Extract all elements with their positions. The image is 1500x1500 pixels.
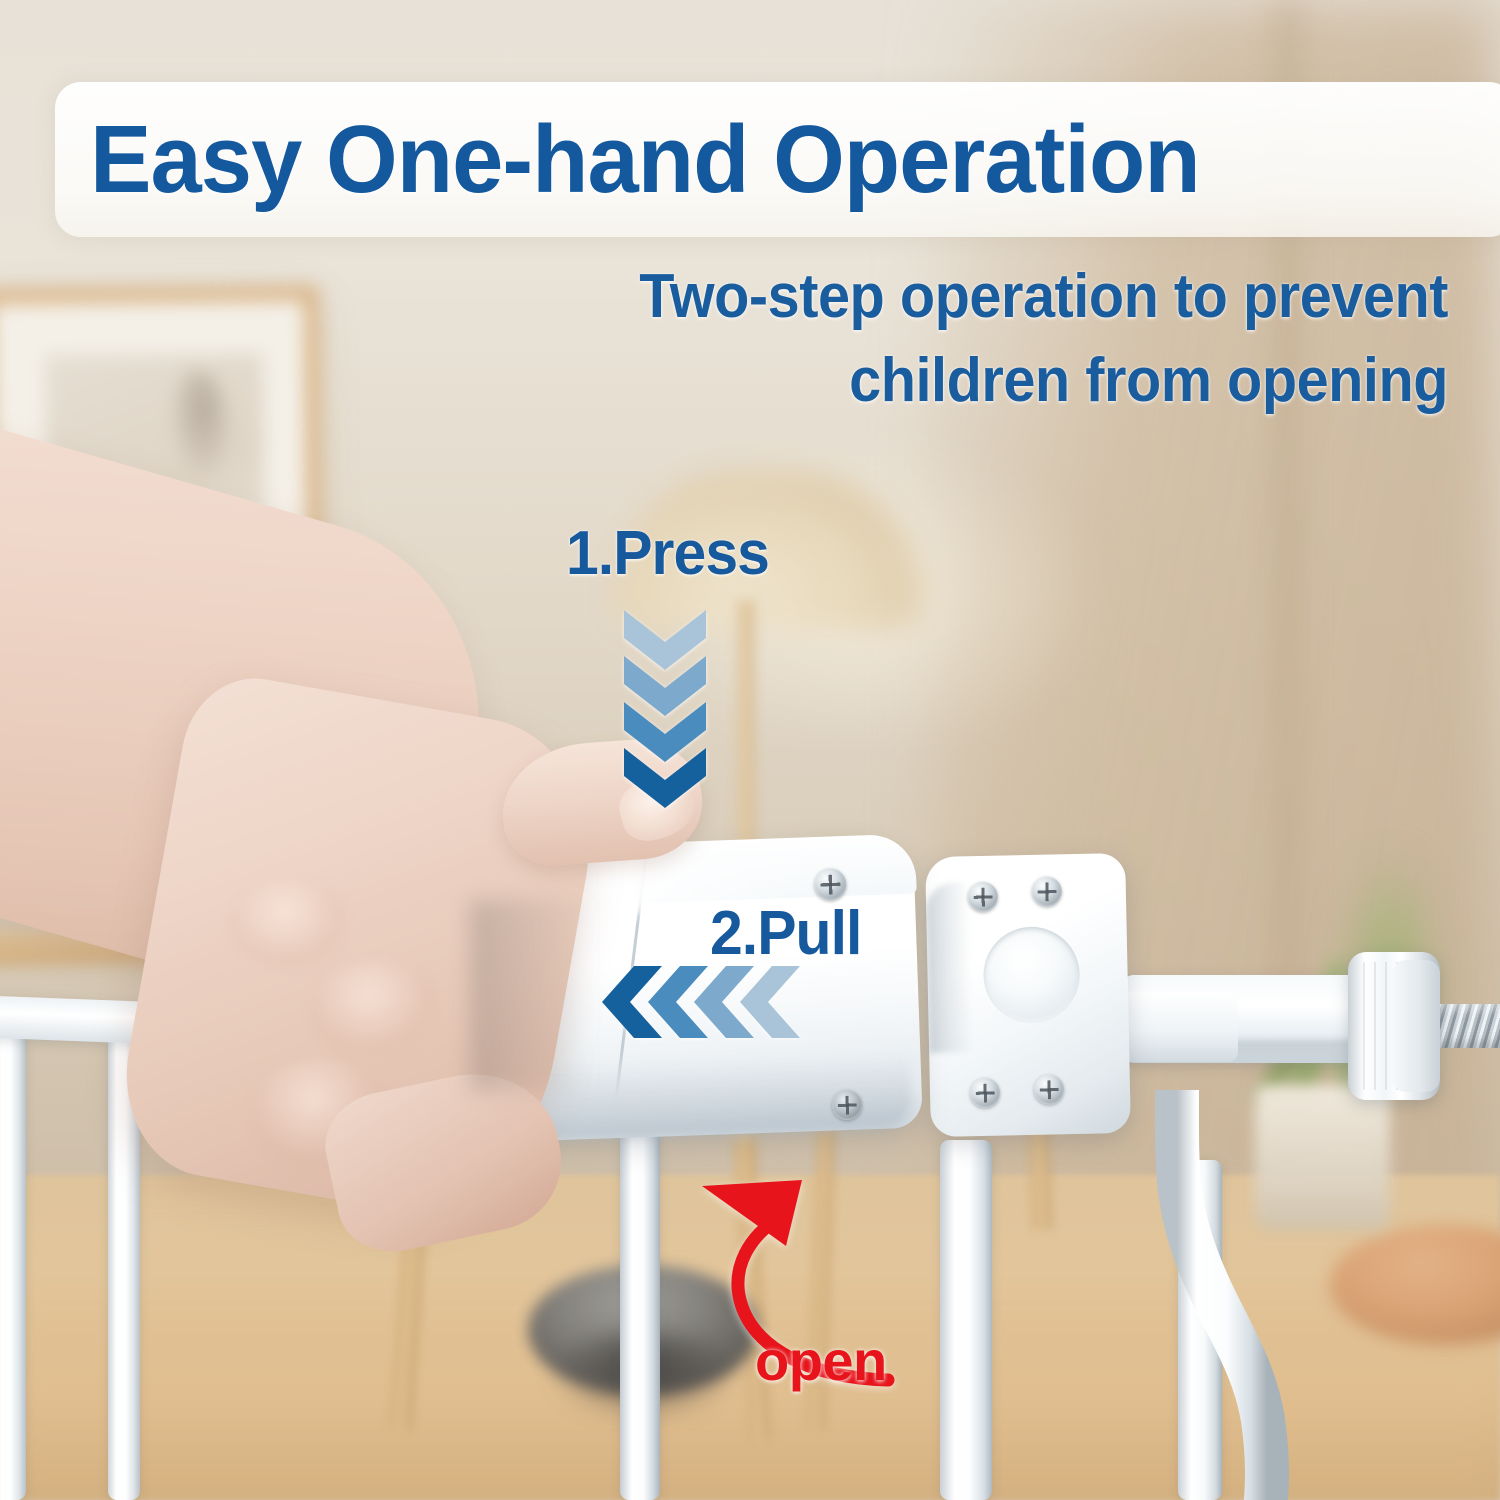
product-feature-image: Easy One-hand Operation Two-step operati… (0, 0, 1500, 1500)
tension-knob-face (1392, 960, 1440, 1092)
threaded-rod (1432, 1004, 1500, 1048)
hinge-inner-shadow (926, 882, 974, 1053)
subtitle: Two-step operation to prevent children f… (518, 255, 1448, 423)
chevron-left-icon-group (600, 962, 800, 1042)
phillips-screw (1034, 1074, 1065, 1105)
step-pull-label: 2.Pull (710, 898, 861, 969)
knuckle-highlight (310, 960, 440, 1060)
step-press-label: 1.Press (566, 518, 769, 589)
hinge-dial (983, 926, 1081, 1024)
page-title: Easy One-hand Operation (90, 104, 1415, 216)
phillips-screw (1032, 876, 1063, 907)
knuckle-highlight (230, 880, 350, 970)
subtitle-line-1: Two-step operation to prevent (518, 255, 1448, 339)
open-label: open (755, 1328, 887, 1393)
chevron-down-icon-group (620, 608, 710, 808)
hand-shadow (470, 900, 590, 1090)
phillips-screw (970, 1078, 1001, 1109)
gate-connector-block (1118, 992, 1238, 1062)
gate-bar-middle (620, 1125, 660, 1500)
hinge-bracket (925, 853, 1131, 1137)
subtitle-line-2: children from opening (518, 339, 1448, 423)
phillips-screw (968, 882, 999, 913)
gate-curved-tube (1135, 1090, 1345, 1500)
gate-bar-left (0, 1030, 26, 1500)
